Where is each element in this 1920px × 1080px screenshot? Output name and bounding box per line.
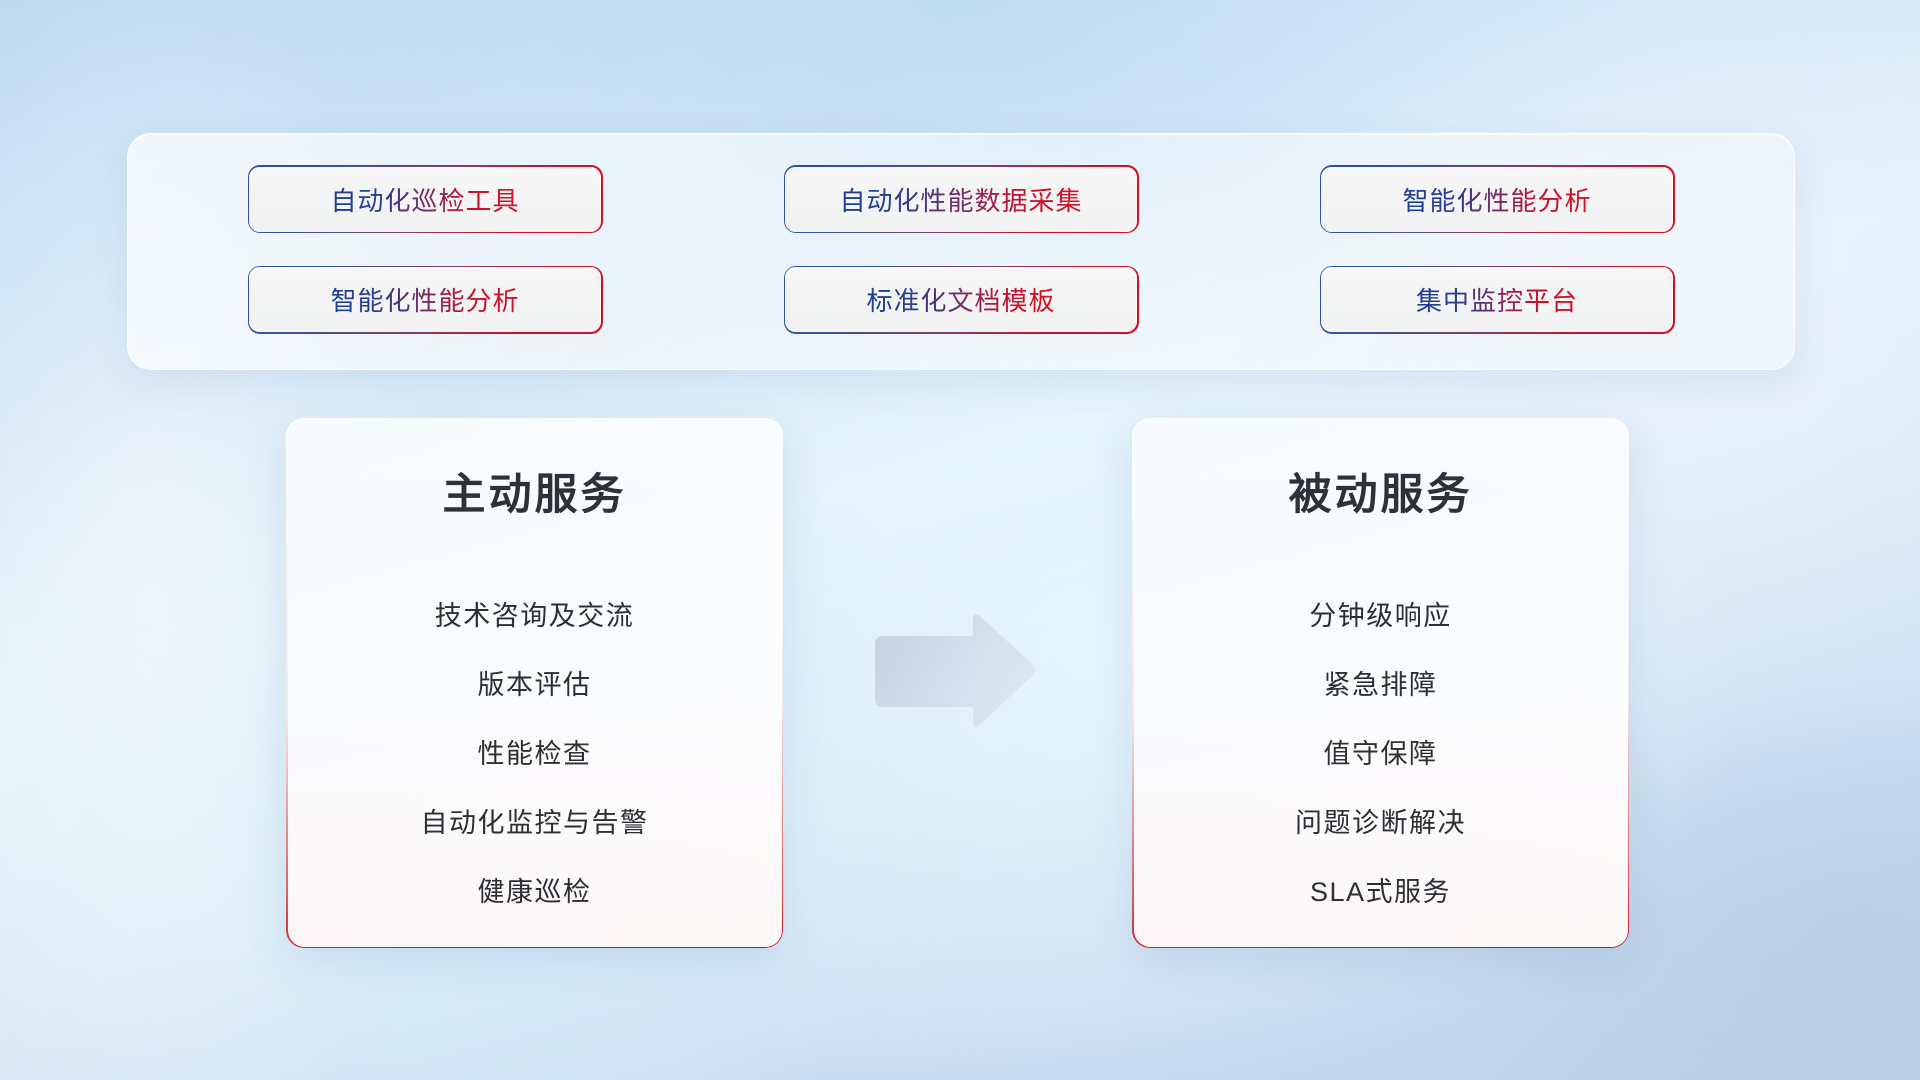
capability-chip-label: 智能化性能分析 bbox=[1402, 181, 1591, 218]
capability-chip-label: 标准化文档模板 bbox=[866, 281, 1055, 318]
list-item: 自动化监控与告警 bbox=[421, 789, 649, 858]
list-item: 性能检查 bbox=[478, 720, 592, 789]
service-card-proactive: 主动服务 技术咨询及交流 版本评估 性能检查 自动化监控与告警 健康巡检 bbox=[286, 418, 783, 948]
capability-chip-label: 自动化性能数据采集 bbox=[839, 181, 1082, 218]
capability-chip-surface: 自动化性能数据采集 bbox=[785, 167, 1137, 232]
right-arrow-icon bbox=[869, 612, 1039, 732]
list-item: 版本评估 bbox=[478, 651, 592, 720]
capability-chip-surface: 标准化文档模板 bbox=[785, 267, 1137, 332]
capability-chip-surface: 智能化性能分析 bbox=[249, 267, 601, 332]
capability-chip-4[interactable]: 智能化性能分析 bbox=[248, 266, 603, 334]
list-item: SLA式服务 bbox=[1310, 858, 1451, 927]
list-item: 技术咨询及交流 bbox=[435, 582, 635, 651]
list-item: 问题诊断解决 bbox=[1295, 789, 1466, 858]
capability-chip-2[interactable]: 自动化性能数据采集 bbox=[784, 165, 1139, 233]
card-title: 主动服务 bbox=[443, 460, 627, 522]
capability-chip-6[interactable]: 集中监控平台 bbox=[1320, 266, 1675, 334]
capability-chip-surface: 集中监控平台 bbox=[1321, 267, 1673, 332]
card-title: 被动服务 bbox=[1289, 460, 1473, 522]
capability-chip-label: 自动化巡检工具 bbox=[330, 181, 519, 218]
capability-chip-1[interactable]: 自动化巡检工具 bbox=[248, 165, 603, 233]
capability-chip-5[interactable]: 标准化文档模板 bbox=[784, 266, 1139, 334]
service-card-reactive: 被动服务 分钟级响应 紧急排障 值守保障 问题诊断解决 SLA式服务 bbox=[1132, 418, 1629, 948]
service-item-list: 分钟级响应 紧急排障 值守保障 问题诊断解决 SLA式服务 bbox=[1160, 582, 1602, 927]
capability-chip-label: 集中监控平台 bbox=[1416, 281, 1578, 318]
capability-chip-label: 智能化性能分析 bbox=[330, 281, 519, 318]
capability-panel: 自动化巡检工具 自动化性能数据采集 智能化性能分析 智能化性能分析 标准化文档模… bbox=[127, 133, 1795, 370]
list-item: 分钟级响应 bbox=[1309, 582, 1452, 651]
list-item: 紧急排障 bbox=[1324, 651, 1438, 720]
capability-chip-surface: 智能化性能分析 bbox=[1321, 167, 1673, 232]
list-item: 健康巡检 bbox=[478, 858, 592, 927]
service-card-surface: 主动服务 技术咨询及交流 版本评估 性能检查 自动化监控与告警 健康巡检 bbox=[288, 420, 782, 947]
list-item: 值守保障 bbox=[1324, 720, 1438, 789]
service-card-surface: 被动服务 分钟级响应 紧急排障 值守保障 问题诊断解决 SLA式服务 bbox=[1134, 420, 1628, 947]
service-item-list: 技术咨询及交流 版本评估 性能检查 自动化监控与告警 健康巡检 bbox=[314, 582, 756, 927]
capability-chip-surface: 自动化巡检工具 bbox=[249, 167, 601, 232]
capability-chip-3[interactable]: 智能化性能分析 bbox=[1320, 165, 1675, 233]
